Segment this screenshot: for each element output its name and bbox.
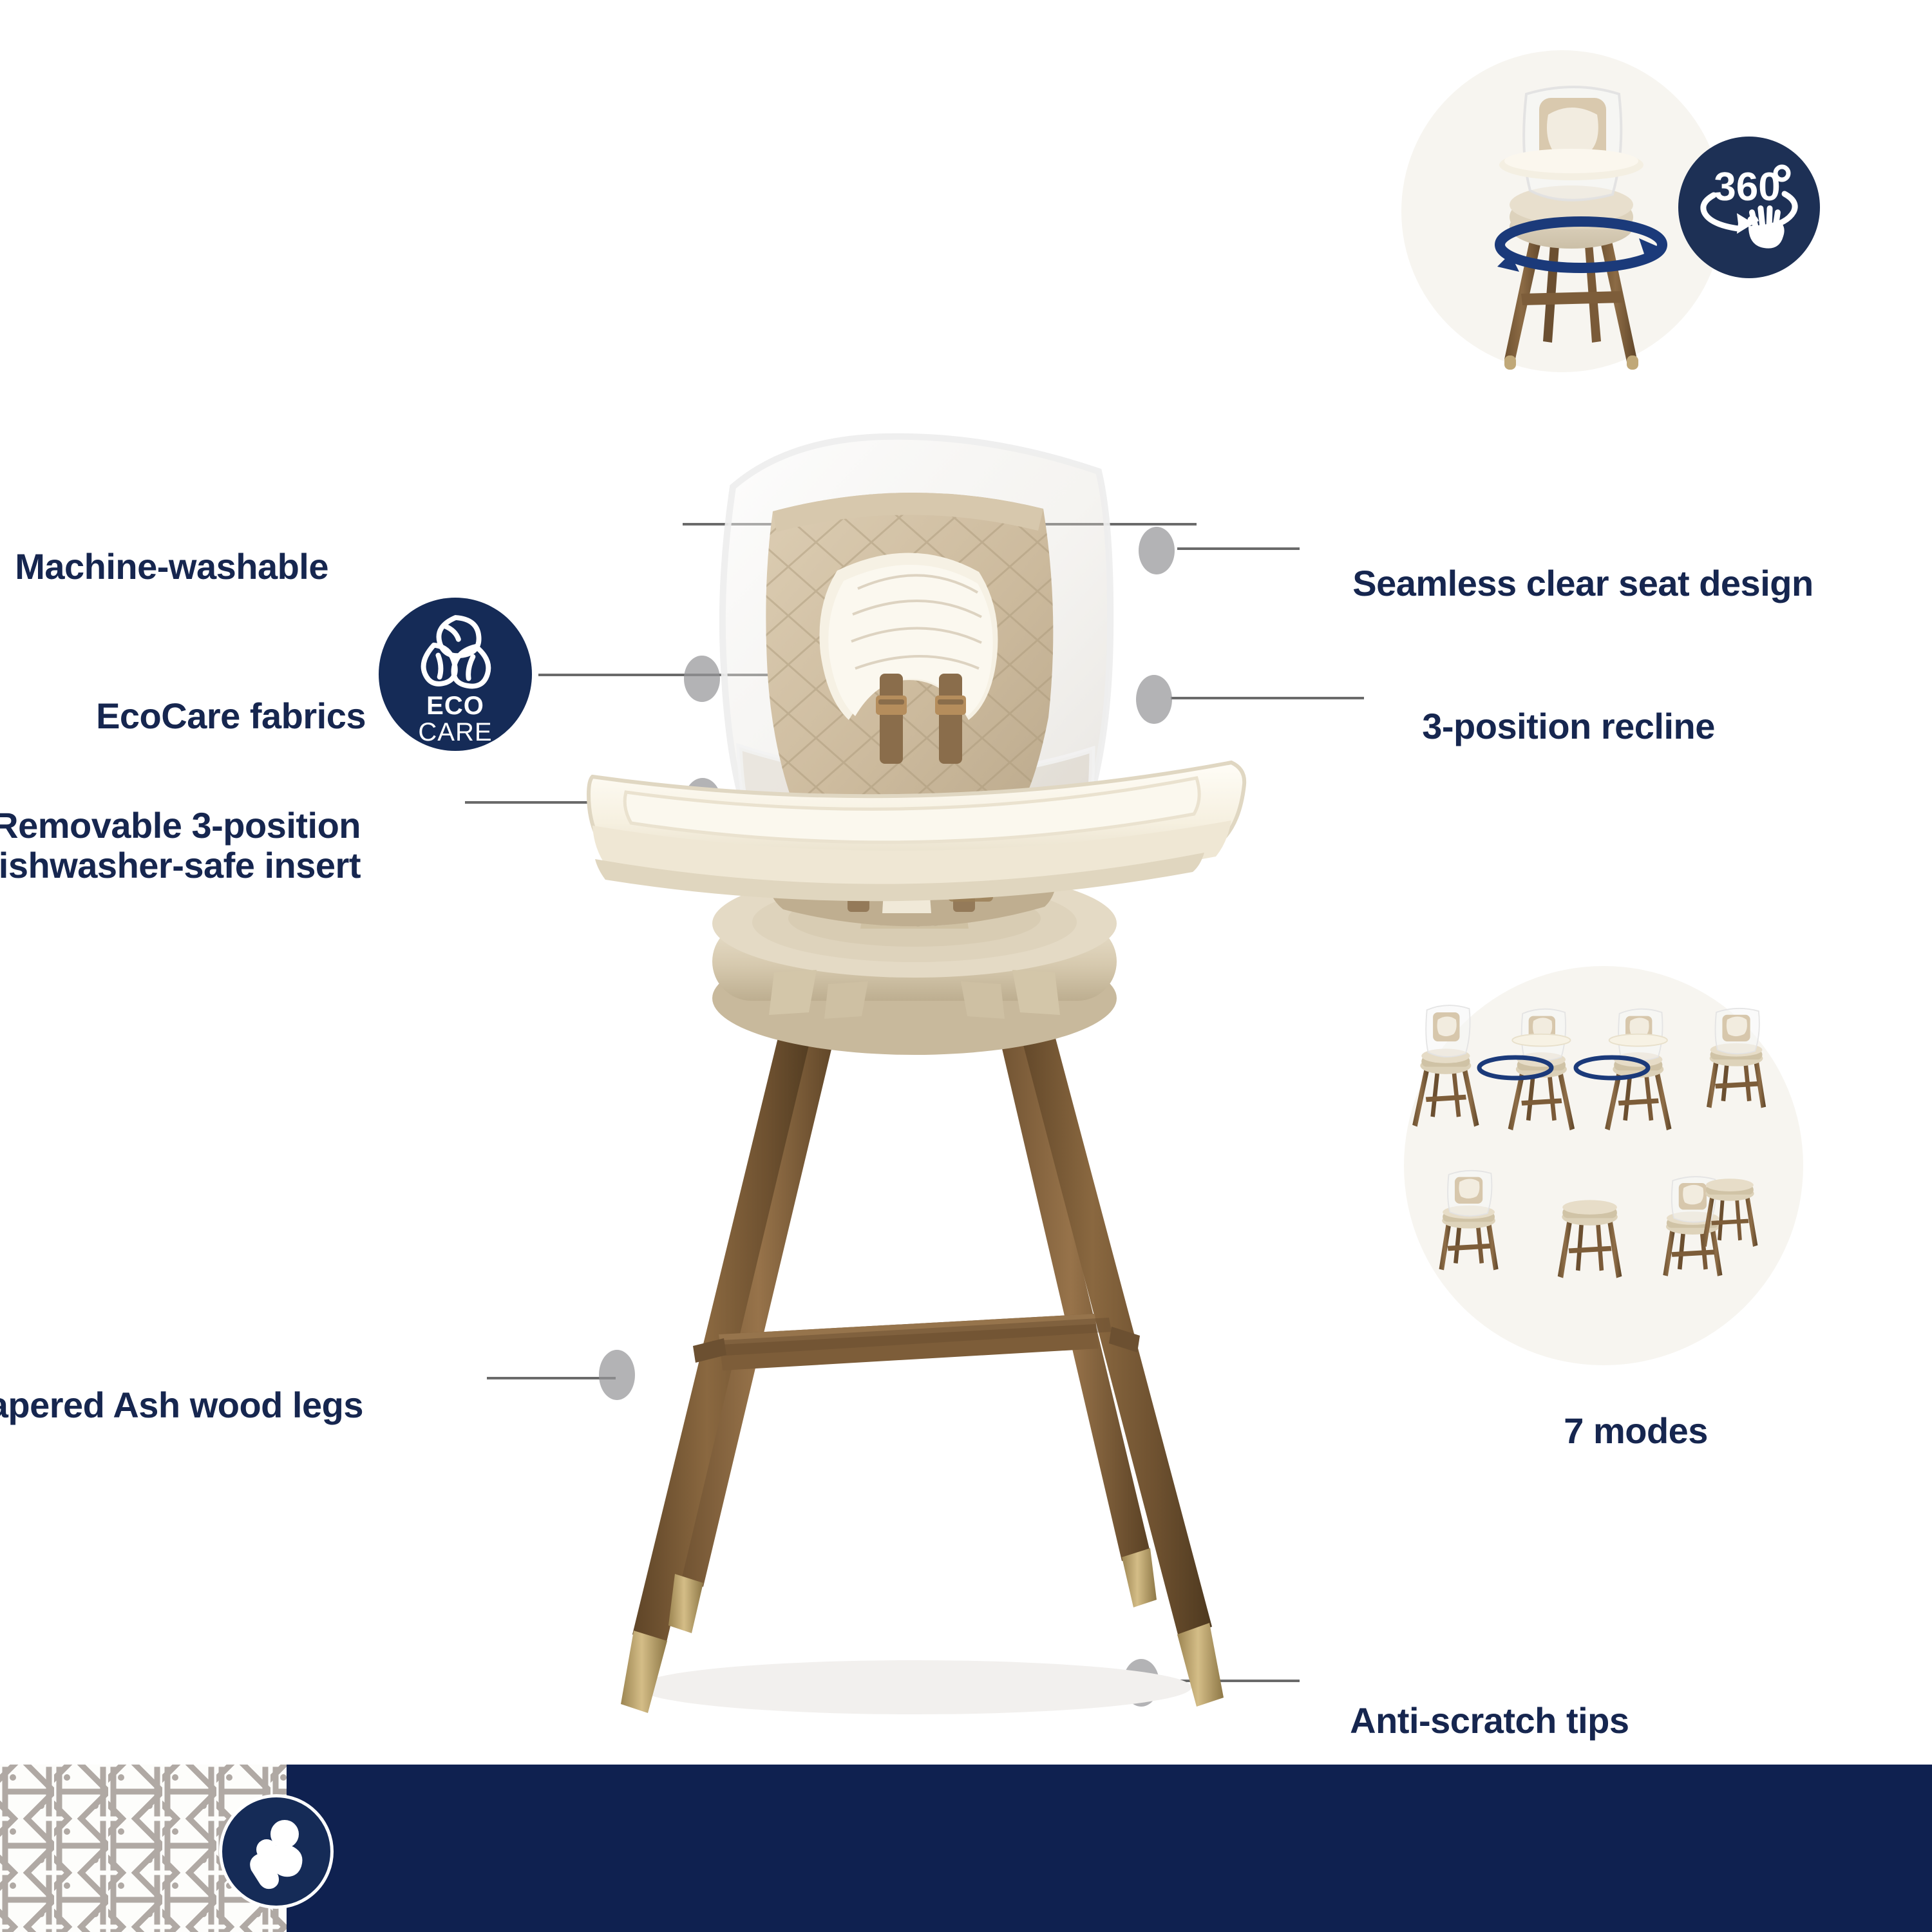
mother-and-child-icon — [238, 1814, 314, 1889]
modes-label-text: 7 modes — [1564, 1410, 1708, 1451]
three-leaves-icon — [410, 612, 502, 692]
callout-3-position-recline: 3-position recline — [1383, 666, 1715, 787]
eco-badge-line1: ECO — [426, 693, 484, 719]
callout-label: Seamless clear seat design — [1352, 563, 1813, 603]
callout-tapered-legs: Tapered Ash wood legs — [0, 1345, 363, 1466]
callout-label: 3-position recline — [1422, 706, 1715, 746]
callout-label: Anti-scratch tips — [1350, 1700, 1629, 1741]
svg-text:360: 360 — [1714, 165, 1780, 209]
badge-360: 360 — [1678, 137, 1820, 278]
callout-ecocare-fabrics: EcoCare fabrics — [57, 656, 366, 777]
rotating-chair-thumbnail — [1481, 39, 1662, 374]
main-highchair-product-image — [567, 444, 1249, 1726]
modes-thumbnail-grid — [1404, 992, 1803, 1333]
callout-seamless-seat: Seamless clear seat design — [1314, 523, 1814, 644]
bottom-brand-bar — [0, 1765, 1932, 1932]
eco-badge-line2: CARE — [418, 719, 492, 746]
badge-ecocare: ECO CARE — [379, 598, 532, 751]
callout-machine-washable: Machine-washable — [0, 506, 328, 627]
callout-anti-scratch-tips: Anti-scratch tips — [1312, 1660, 1629, 1781]
mother-and-child-logo — [219, 1794, 334, 1909]
seven-mode-chairs — [1404, 992, 1803, 1333]
callout-label: Tapered Ash wood legs — [0, 1385, 363, 1425]
navy-brand-band — [287, 1765, 1932, 1932]
infographic-canvas: 360 Machine-washable EcoCare fabrics — [0, 0, 1932, 1932]
callout-label: Removable 3-position tray with dishwashe… — [0, 805, 361, 886]
callout-label: Machine-washable — [15, 546, 328, 587]
rotation-ring-icon — [1484, 213, 1678, 277]
modes-label: 7 modes — [1525, 1370, 1708, 1492]
rotate-hand-icon: 360 — [1688, 159, 1810, 256]
callout-removable-tray: Removable 3-position tray with dishwashe… — [0, 765, 361, 927]
callout-label: EcoCare fabrics — [96, 696, 366, 736]
